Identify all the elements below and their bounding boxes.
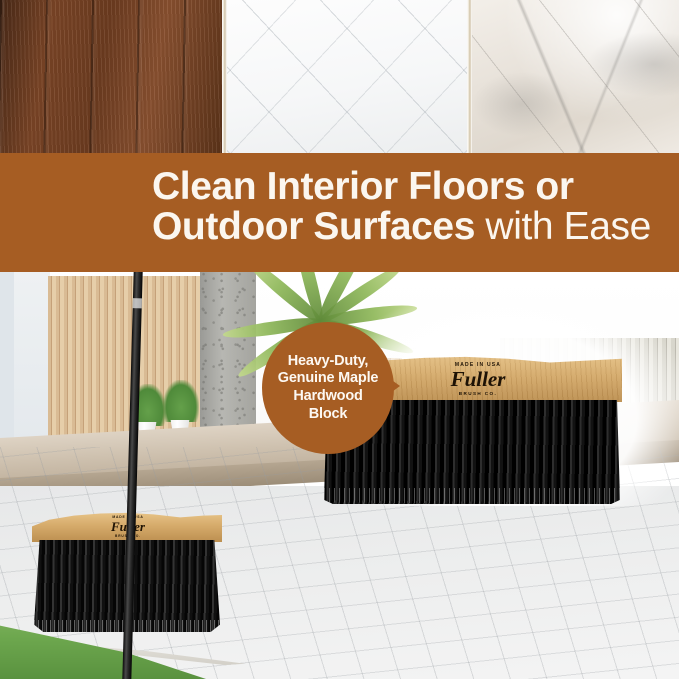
feature-callout-badge: Heavy-Duty, Genuine Maple Hardwood Block	[262, 322, 394, 454]
fuller-brand-logo-large: MADE IN USA Fuller BRUSH CO.	[408, 362, 548, 396]
headline-line-1: Clean Interior Floors or	[152, 167, 672, 207]
floor-panel-white-tile	[227, 0, 467, 153]
floor-panel-dark-hardwood	[0, 0, 222, 153]
headline-banner: Clean Interior Floors or Outdoor Surface…	[0, 153, 679, 272]
planter-bush	[163, 380, 199, 422]
floor-panel-marble	[472, 0, 679, 153]
fuller-wordmark: Fuller	[408, 369, 548, 390]
callout-line-2: Genuine Maple	[278, 370, 379, 388]
callout-text: Heavy-Duty, Genuine Maple Hardwood Block	[262, 322, 394, 454]
callout-line-3: Hardwood	[278, 388, 379, 406]
handle-marking	[133, 298, 142, 308]
brush-co-text: BRUSH CO.	[408, 391, 548, 396]
product-marketing-image: Clean Interior Floors or Outdoor Surface…	[0, 0, 679, 679]
headline-line-2: Outdoor Surfaces with Ease	[152, 207, 672, 247]
headline-line-2-bold: Outdoor Surfaces	[152, 205, 475, 248]
flooring-samples-strip	[0, 0, 679, 153]
white-wall-edge	[0, 272, 14, 462]
headline-text: Clean Interior Floors or Outdoor Surface…	[152, 167, 672, 247]
callout-line-1: Heavy-Duty,	[278, 353, 379, 371]
callout-line-4: Block	[278, 406, 379, 424]
headline-line-2-light: with Ease	[475, 205, 651, 248]
